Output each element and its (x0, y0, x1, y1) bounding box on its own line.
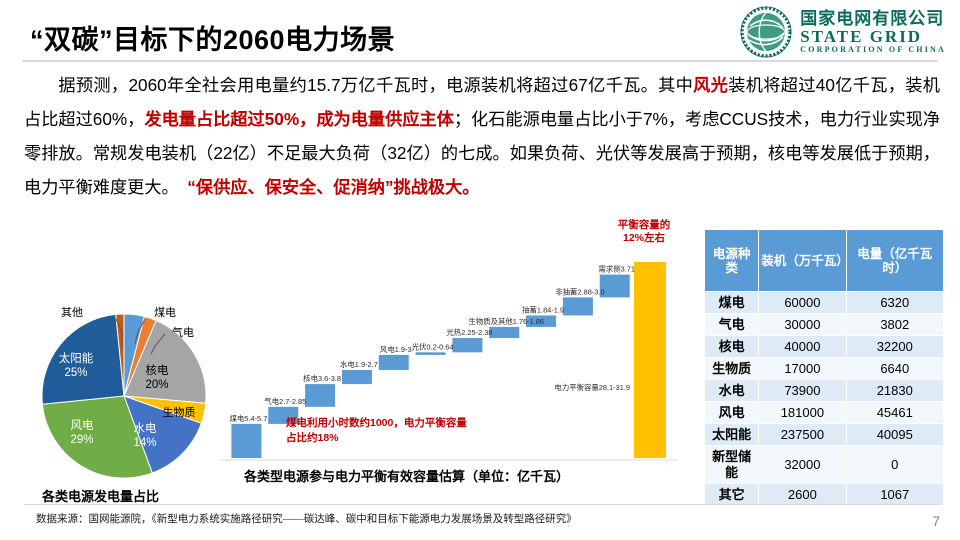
body-highlight-1: 风光 (693, 75, 728, 95)
table-row: 水电7390021830 (705, 380, 944, 402)
power-source-table: 电源种类 装机（万千瓦） 电量（亿千瓦时） 煤电600006320气电30000… (704, 229, 944, 506)
waterfall-bar-核电 (305, 384, 335, 407)
waterfall-label-煤电: 煤电5.4-5.7 (230, 414, 268, 423)
waterfall-label-气电: 气电2.7-2.85 (264, 397, 306, 406)
cell-energy: 40095 (846, 424, 943, 446)
table-col-source: 电源种类 (705, 230, 759, 292)
pie-value-wind: 29% (70, 434, 93, 446)
cell-source-name: 煤电 (705, 292, 759, 314)
table-body: 煤电600006320气电300003802核电4000032200生物质170… (705, 292, 944, 506)
balance-capacity-note: 平衡容量的 12%左右 (596, 219, 692, 245)
cell-capacity: 237500 (759, 424, 846, 446)
logo-company-sub: CORPORATION OF CHINA (800, 46, 946, 54)
pie-chart-panel: 其他 煤电 气电 太阳能 25% 风电 29% 水电 14% 核电 20% 生物… (14, 258, 250, 506)
cell-source-name: 风电 (705, 402, 759, 424)
table-row: 核电4000032200 (705, 336, 944, 358)
cell-source-name: 其它 (705, 484, 759, 506)
cell-capacity: 32000 (759, 446, 846, 484)
cell-capacity: 40000 (759, 336, 846, 358)
logo-company-en: STATE GRID (800, 28, 946, 45)
cell-source-name: 水电 (705, 380, 759, 402)
waterfall-label-生物质及其他: 生物质及其他1.76-1.86 (468, 317, 544, 326)
cell-source-name: 新型储能 (705, 446, 759, 484)
table-row: 气电300003802 (705, 314, 944, 336)
body-highlight-3: “保供应、保安全、促消纳”挑战极大。 (187, 177, 479, 197)
pie-value-solar: 25% (64, 367, 87, 379)
table-header-row: 电源种类 装机（万千瓦） 电量（亿千瓦时） (705, 230, 944, 292)
waterfall-label-光热: 光热2.25-2.38 (446, 328, 492, 337)
coal-utilization-note: 煤电利用小时数约1000，电力平衡容量占比约18% (286, 416, 476, 446)
table-row: 新型储能320000 (705, 446, 944, 484)
state-grid-globe-icon (740, 6, 792, 58)
pie-label-solar: 太阳能 (59, 351, 94, 365)
title-divider (22, 60, 938, 62)
waterfall-label-需求侧: 需求侧3.71 (598, 265, 635, 274)
waterfall-label-水电: 水电1.9-2.7 (340, 360, 378, 369)
waterfall-label-光伏: 光伏0.2-0.64 (412, 342, 454, 351)
pie-label-nuclear: 核电 (146, 363, 169, 377)
waterfall-label-抽蓄: 抽蓄1.84-1.9 (522, 305, 564, 314)
table-row: 其它26001067 (705, 484, 944, 506)
source-note: 数据来源：国网能源院，《新型电力系统实施路径研究——碳达峰、碳中和目标下能源电力… (36, 511, 577, 526)
pie-label-wind: 风电 (71, 419, 94, 432)
pie-value-nuclear: 20% (145, 379, 168, 391)
table-row: 风电18100045461 (705, 402, 944, 424)
state-grid-logo: 国家电网有限公司 STATE GRID CORPORATION OF CHINA (740, 6, 946, 58)
body-highlight-2: 发电量占比超过50%，成为电量供应主体 (144, 109, 453, 129)
cell-capacity: 17000 (759, 358, 846, 380)
table-row: 太阳能23750040095 (705, 424, 944, 446)
body-segment-1: 据预测，2060年全社会用电量约15.7万亿千瓦时，电源装机将超过67亿千瓦。其… (58, 75, 693, 95)
cell-energy: 21830 (846, 380, 943, 402)
waterfall-label-非抽蓄: 非抽蓄2.88-3.0 (555, 287, 604, 296)
pie-label-other: 其他 (61, 306, 83, 319)
pie-label-coal: 煤电 (154, 306, 176, 319)
footer-divider (24, 504, 938, 505)
balance-capacity-note-line2: 12%左右 (596, 232, 692, 245)
table-row: 煤电600006320 (705, 292, 944, 314)
waterfall-bar-风电 (379, 355, 409, 370)
slide-root: “双碳”目标下的2060电力场景 国家电网有限公司 STATE GRID COR… (0, 0, 960, 540)
waterfall-bar-非抽蓄 (563, 297, 593, 315)
cell-capacity: 2600 (759, 484, 846, 506)
pie-chart-caption: 各类电源发电量占比 (42, 486, 159, 505)
cell-energy: 6640 (846, 358, 943, 380)
waterfall-label-风电: 风电1.9-3 (380, 345, 412, 354)
waterfall-bar-光热 (452, 338, 482, 352)
waterfall-bar-水电 (342, 370, 372, 384)
cell-source-name: 气电 (705, 314, 759, 336)
waterfall-bar-电力平衡容量 (634, 262, 666, 458)
cell-capacity: 73900 (759, 380, 846, 402)
pie-label-hydro: 水电 (134, 422, 157, 435)
cell-source-name: 太阳能 (705, 424, 759, 446)
cell-energy: 45461 (846, 402, 943, 424)
cell-energy: 32200 (846, 336, 943, 358)
page-number: 7 (932, 513, 940, 529)
balance-capacity-note-line1: 平衡容量的 (596, 219, 692, 232)
table-row: 生物质170006640 (705, 358, 944, 380)
waterfall-chart-caption: 各类型电源参与电力平衡有效容量估算（单位：亿千瓦） (244, 466, 569, 485)
waterfall-bar-光伏 (416, 352, 446, 355)
pie-label-gas: 气电 (172, 325, 194, 339)
cell-source-name: 核电 (705, 336, 759, 358)
table-header: 电源种类 装机（万千瓦） 电量（亿千瓦时） (705, 230, 944, 292)
table-col-capacity: 装机（万千瓦） (759, 230, 846, 292)
cell-energy: 3802 (846, 314, 943, 336)
cell-source-name: 生物质 (705, 358, 759, 380)
logo-company-cn: 国家电网有限公司 (800, 10, 946, 27)
table-col-energy: 电量（亿千瓦时） (846, 230, 943, 292)
waterfall-label-核电: 核电3.6-3.8 (303, 374, 341, 383)
cell-capacity: 181000 (759, 402, 846, 424)
logo-text-block: 国家电网有限公司 STATE GRID CORPORATION OF CHINA (800, 10, 946, 54)
pie-label-biomass: 生物质 (163, 405, 196, 419)
pie-value-hydro: 14% (133, 437, 156, 449)
waterfall-bar-生物质及其他 (489, 327, 519, 338)
waterfall-bar-煤电 (231, 424, 261, 458)
page-title: “双碳”目标下的2060电力场景 (30, 18, 395, 57)
waterfall-label-电力平衡容量: 电力平衡容量28.1-31.9 (554, 383, 630, 392)
body-paragraph: 据预测，2060年全社会用电量约15.7万亿千瓦时，电源装机将超过67亿千瓦。其… (24, 68, 940, 204)
cell-energy: 1067 (846, 484, 943, 506)
cell-energy: 0 (846, 446, 943, 484)
generation-mix-pie-chart: 其他 煤电 气电 太阳能 25% 风电 29% 水电 14% 核电 20% 生物… (14, 274, 250, 486)
cell-energy: 6320 (846, 292, 943, 314)
cell-capacity: 30000 (759, 314, 846, 336)
cell-capacity: 60000 (759, 292, 846, 314)
